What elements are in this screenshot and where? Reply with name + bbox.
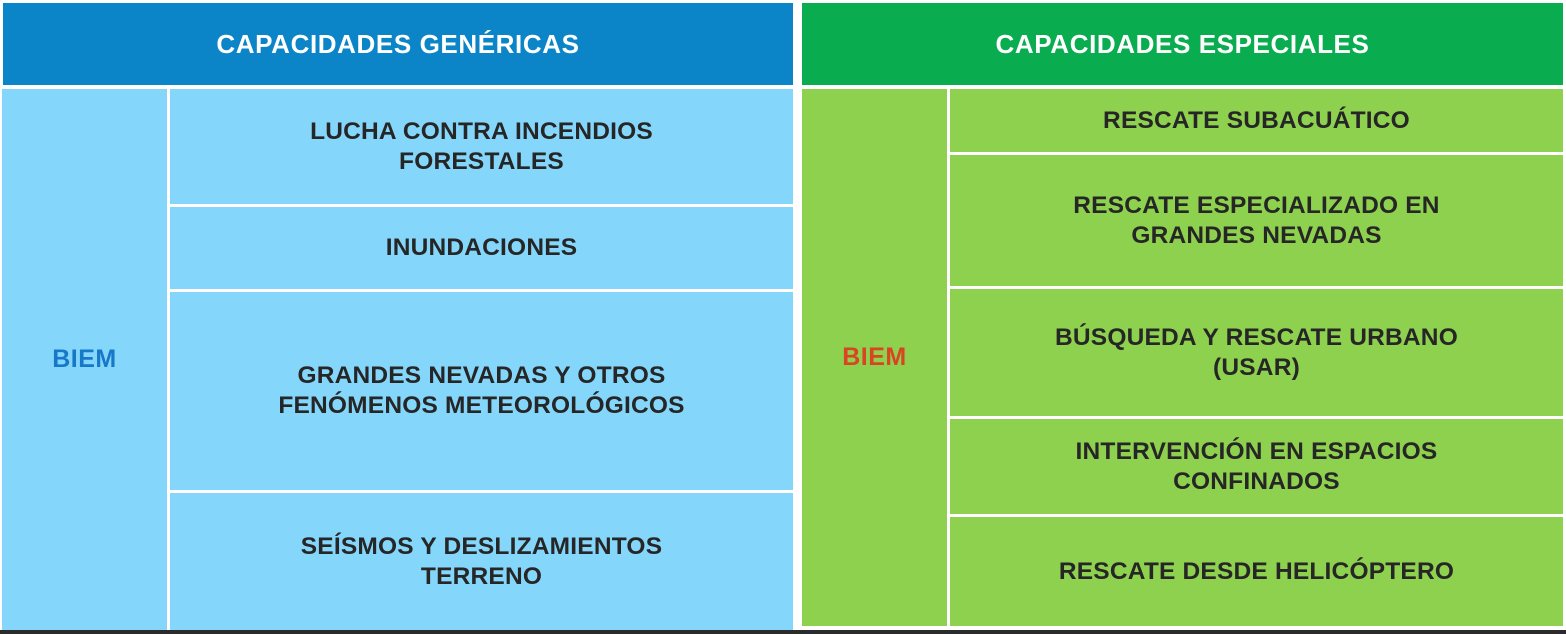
table-row: RESCATE DESDE HELICÓPTERO: [950, 517, 1563, 626]
bottom-edge-strip: [0, 630, 1566, 634]
table-row: SEÍSMOS Y DESLIZAMIENTOS TERRENO: [170, 493, 793, 630]
capacidades-genericas-unit-label: BIEM: [2, 89, 170, 630]
capacidades-genericas-header: CAPACIDADES GENÉRICAS: [3, 3, 793, 85]
capabilities-tables-slide: CAPACIDADES GENÉRICAS BIEM LUCHA CONTRA …: [0, 0, 1566, 634]
table-row: RESCATE ESPECIALIZADO EN GRANDES NEVADAS: [950, 155, 1563, 289]
table-row: BÚSQUEDA Y RESCATE URBANO (USAR): [950, 289, 1563, 419]
table-row: LUCHA CONTRA INCENDIOS FORESTALES: [170, 89, 793, 207]
capacidades-especiales-unit-label: BIEM: [802, 89, 950, 626]
capacidades-genericas-body: BIEM LUCHA CONTRA INCENDIOS FORESTALES I…: [2, 89, 793, 630]
capacidades-especiales-rows: RESCATE SUBACUÁTICO RESCATE ESPECIALIZAD…: [950, 89, 1563, 626]
capacidades-especiales-panel: CAPACIDADES ESPECIALES BIEM RESCATE SUBA…: [802, 0, 1566, 634]
table-row: RESCATE SUBACUÁTICO: [950, 89, 1563, 155]
capacidades-especiales-body: BIEM RESCATE SUBACUÁTICO RESCATE ESPECIA…: [802, 89, 1563, 626]
table-row: GRANDES NEVADAS Y OTROS FENÓMENOS METEOR…: [170, 292, 793, 493]
capacidades-especiales-header: CAPACIDADES ESPECIALES: [802, 3, 1563, 85]
capacidades-genericas-panel: CAPACIDADES GENÉRICAS BIEM LUCHA CONTRA …: [0, 0, 793, 634]
capacidades-genericas-rows: LUCHA CONTRA INCENDIOS FORESTALES INUNDA…: [170, 89, 793, 630]
table-row: INUNDACIONES: [170, 207, 793, 292]
table-row: INTERVENCIÓN EN ESPACIOS CONFINADOS: [950, 419, 1563, 517]
